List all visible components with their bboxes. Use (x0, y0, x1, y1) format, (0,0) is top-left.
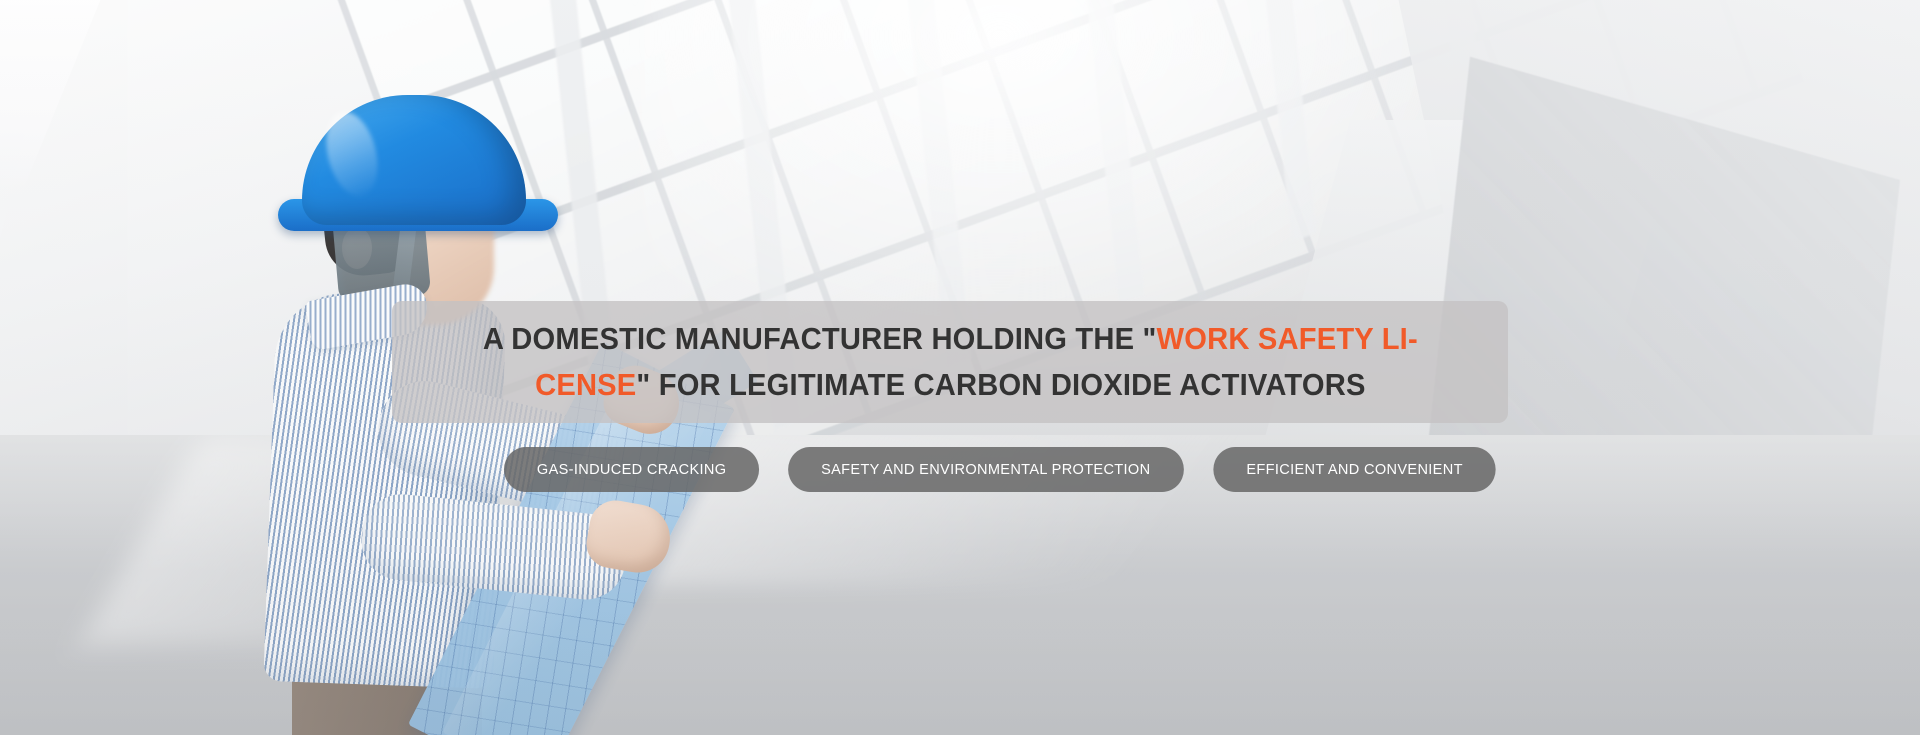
tag-label: GAS-INDUCED CRACKING (537, 461, 726, 478)
headline-line-1: A DOMESTIC MANUFACTURER HOLDING THE "WOR… (482, 316, 1417, 362)
tag-efficient-and-convenient[interactable]: EFFICIENT AND CONVENIENT (1213, 447, 1495, 492)
feature-tag-row: GAS-INDUCED CRACKING SAFETY AND ENVIRONM… (500, 447, 1500, 492)
headline-line-2-plain: " FOR LEGITIMATE CARBON DIOXIDE ACTIVATO… (636, 367, 1365, 402)
tag-label: SAFETY AND ENVIRONMENTAL PROTECTION (821, 461, 1150, 478)
left-wall-light-strip (0, 0, 109, 190)
page-title: A DOMESTIC MANUFACTURER HOLDING THE "WOR… (482, 316, 1417, 408)
tag-safety-and-environmental-protection[interactable]: SAFETY AND ENVIRONMENTAL PROTECTION (788, 447, 1183, 492)
headline-line-1-plain: A DOMESTIC MANUFACTURER HOLDING THE " (482, 321, 1156, 356)
tag-gas-induced-cracking[interactable]: GAS-INDUCED CRACKING (504, 447, 759, 492)
hero-banner: A DOMESTIC MANUFACTURER HOLDING THE "WOR… (0, 0, 1920, 735)
tag-label: EFFICIENT AND CONVENIENT (1246, 461, 1462, 478)
headline-panel: A DOMESTIC MANUFACTURER HOLDING THE "WOR… (392, 301, 1508, 423)
headline-line-2: CENSE" FOR LEGITIMATE CARBON DIOXIDE ACT… (482, 362, 1417, 408)
headline-line-1-accent: WORK SAFETY LI- (1156, 321, 1417, 356)
headline-line-2-accent: CENSE (535, 367, 636, 402)
